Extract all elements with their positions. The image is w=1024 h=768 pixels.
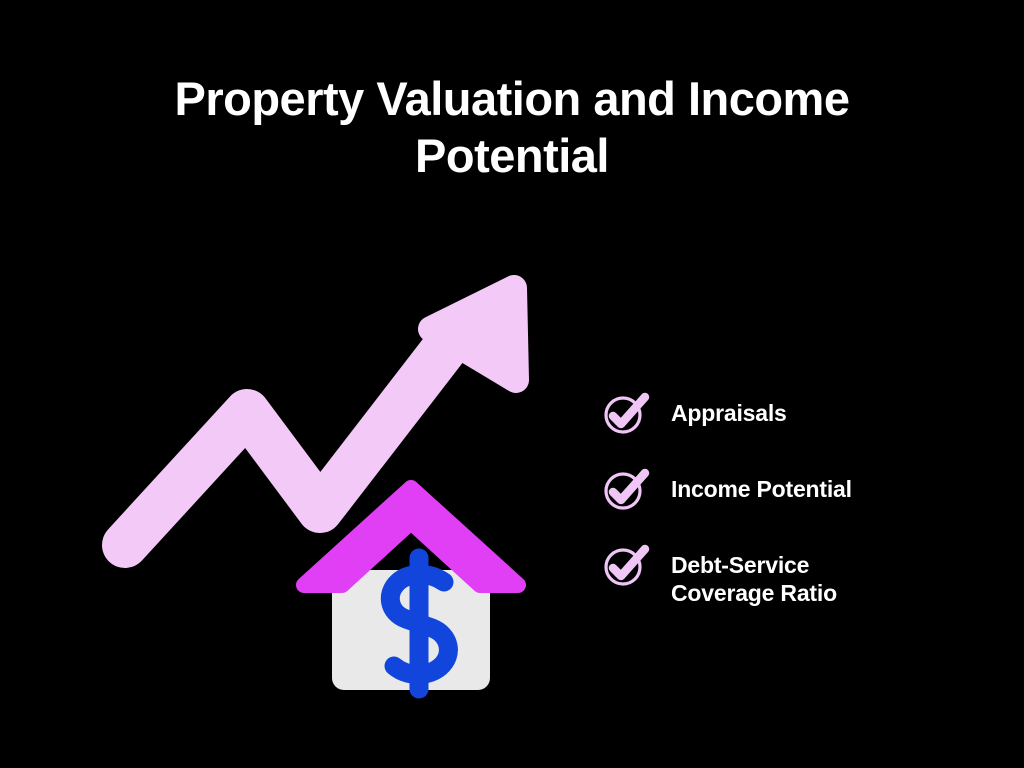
list-item: Appraisals [598, 392, 998, 436]
list-item: Debt-Service Coverage Ratio [598, 544, 998, 607]
list-item-label: Debt-Service Coverage Ratio [671, 544, 837, 607]
slide-canvas: Property Valuation and Income Potential [0, 0, 1024, 768]
list-item-label: Appraisals [671, 392, 787, 427]
check-circle-icon [598, 466, 654, 512]
check-circle-icon [598, 542, 654, 588]
page-title: Property Valuation and Income Potential [160, 70, 864, 184]
list-item: Income Potential [598, 468, 998, 512]
list-item-label: Income Potential [671, 468, 852, 503]
dollar-sign-glyph [390, 558, 448, 689]
upward-trending-arrow-icon [125, 288, 516, 545]
check-circle-icon [598, 390, 654, 436]
growth-arrow-and-house-graphic [100, 270, 540, 710]
feature-checklist: Appraisals Income Potential Debt-Service… [598, 392, 998, 607]
